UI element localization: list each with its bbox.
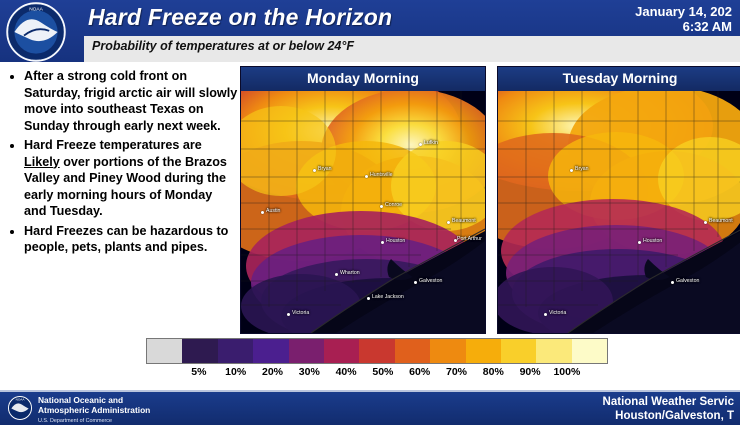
colorbar-tick-label: 90%: [520, 366, 541, 378]
panel-title-monday: Monday Morning: [241, 70, 485, 86]
colorbar-tick-label: 5%: [191, 366, 206, 378]
issued-datetime: January 14, 202 6:32 AM: [635, 4, 732, 34]
map-canvas-monday: Houston Galveston Beaumont Port Arthur L…: [241, 91, 485, 333]
city-label-lufkin: Lufkin: [424, 140, 438, 146]
city-dot-bryan: [313, 169, 316, 172]
city-label-austin: Austin: [266, 208, 280, 214]
city-label-victoria: Victoria: [292, 310, 309, 316]
colorbar-segment-6: [359, 339, 394, 363]
weather-graphic-page: NOAA Hard Freeze on the Horizon Probabil…: [0, 0, 740, 425]
content-area: After a strong cold front on Saturday, f…: [0, 62, 740, 392]
city-label-lake-jackson: Lake Jackson: [372, 294, 404, 300]
city-dot-houston: [381, 241, 384, 244]
colorbar-gradient: [146, 338, 608, 364]
list-item: Hard Freeze temperatures are Likely over…: [24, 137, 238, 220]
colorbar-tick-label: 70%: [446, 366, 467, 378]
colorbar-segment-10: [501, 339, 536, 363]
city-dot-beaumont: [704, 221, 707, 224]
colorbar-segment-12: [572, 339, 607, 363]
issued-date: January 14, 202: [635, 4, 732, 19]
list-item: After a strong cold front on Saturday, f…: [24, 68, 238, 134]
footer-bar: NOAA National Oceanic and Atmospheric Ad…: [0, 392, 740, 425]
city-dot-victoria: [544, 313, 547, 316]
city-dot-beaumont: [447, 221, 450, 224]
footer-office-line2: Houston/Galveston, T: [603, 410, 734, 424]
map-panel-monday: Monday Morning: [240, 66, 486, 334]
city-dot-austin: [261, 211, 264, 214]
city-label-houston: Houston: [643, 238, 662, 244]
colorbar-segment-3: [253, 339, 288, 363]
header-bar: NOAA Hard Freeze on the Horizon Probabil…: [0, 0, 740, 62]
city-label-bryan: Bryan: [318, 166, 332, 172]
colorbar-tick-label: 40%: [336, 366, 357, 378]
panel-title-tuesday: Tuesday Morning: [498, 70, 740, 86]
footer-office-line1: National Weather Servic: [603, 396, 734, 408]
city-label-bryan: Bryan: [575, 166, 589, 172]
colorbar-tick-label: 50%: [372, 366, 393, 378]
city-dot-wharton: [335, 273, 338, 276]
colorbar-segment-5: [324, 339, 359, 363]
colorbar-segment-9: [466, 339, 501, 363]
city-label-beaumont: Beaumont: [709, 218, 733, 224]
svg-text:NOAA: NOAA: [16, 397, 26, 401]
colorbar-tick-label: 100%: [553, 366, 580, 378]
footer-office: National Weather Servic Houston/Galvesto…: [603, 396, 734, 423]
issued-time: 6:32 AM: [635, 19, 732, 34]
colorbar-segment-2: [218, 339, 253, 363]
city-dot-victoria: [287, 313, 290, 316]
city-dot-lake-jackson: [367, 297, 370, 300]
page-subtitle: Probability of temperatures at or below …: [92, 39, 354, 53]
colorbar-tick-label: 60%: [409, 366, 430, 378]
city-label-victoria: Victoria: [549, 310, 566, 316]
city-dot-huntsville: [365, 175, 368, 178]
footer-agency-small: U.S. Department of Commerce: [38, 417, 150, 425]
city-label-wharton: Wharton: [340, 270, 360, 276]
list-item: Hard Freezes can be hazardous to people,…: [24, 223, 238, 256]
probability-map-tuesday: [498, 91, 740, 333]
colorbar-labels: 5%10%20%30%40%50%60%70%80%90%100%: [146, 366, 606, 382]
footer-agency: National Oceanic and Atmospheric Adminis…: [38, 396, 150, 425]
city-dot-galveston: [414, 281, 417, 284]
colorbar-segment-7: [395, 339, 430, 363]
map-panel-tuesday: Tuesday Morning: [497, 66, 740, 334]
footer-agency-line1: National Oceanic and: [38, 395, 123, 405]
colorbar-segment-8: [430, 339, 465, 363]
city-label-beaumont: Beaumont: [452, 218, 476, 224]
colorbar-tick-label: 80%: [483, 366, 504, 378]
city-dot-lufkin: [419, 143, 422, 146]
city-dot-conroe: [380, 205, 383, 208]
city-label-houston: Houston: [386, 238, 405, 244]
colorbar-segment-0: [147, 339, 182, 363]
map-canvas-tuesday: Houston Galveston Beaumont Victoria Brya…: [498, 91, 740, 333]
city-dot-bryan: [570, 169, 573, 172]
colorbar-tick-label: 30%: [299, 366, 320, 378]
colorbar-segment-1: [182, 339, 217, 363]
page-title: Hard Freeze on the Horizon: [88, 4, 392, 31]
city-dot-houston: [638, 241, 641, 244]
city-label-huntsville: Huntsville: [370, 172, 393, 178]
bullet-list: After a strong cold front on Saturday, f…: [6, 68, 238, 259]
city-label-galveston: Galveston: [676, 278, 699, 284]
city-label-galveston: Galveston: [419, 278, 442, 284]
footer-agency-line2: Atmospheric Administration: [38, 405, 150, 415]
colorbar-segment-4: [289, 339, 324, 363]
city-label-port-arthur: Port Arthur: [457, 236, 482, 242]
city-label-conroe: Conroe: [385, 202, 402, 208]
probability-colorbar: 5%10%20%30%40%50%60%70%80%90%100%: [146, 338, 606, 382]
noaa-seal-icon: NOAA: [8, 396, 32, 420]
noaa-seal-icon: NOAA: [6, 2, 66, 62]
colorbar-segment-11: [536, 339, 571, 363]
colorbar-tick-label: 10%: [225, 366, 246, 378]
colorbar-tick-label: 20%: [262, 366, 283, 378]
city-dot-galveston: [671, 281, 674, 284]
svg-text:NOAA: NOAA: [29, 6, 43, 12]
